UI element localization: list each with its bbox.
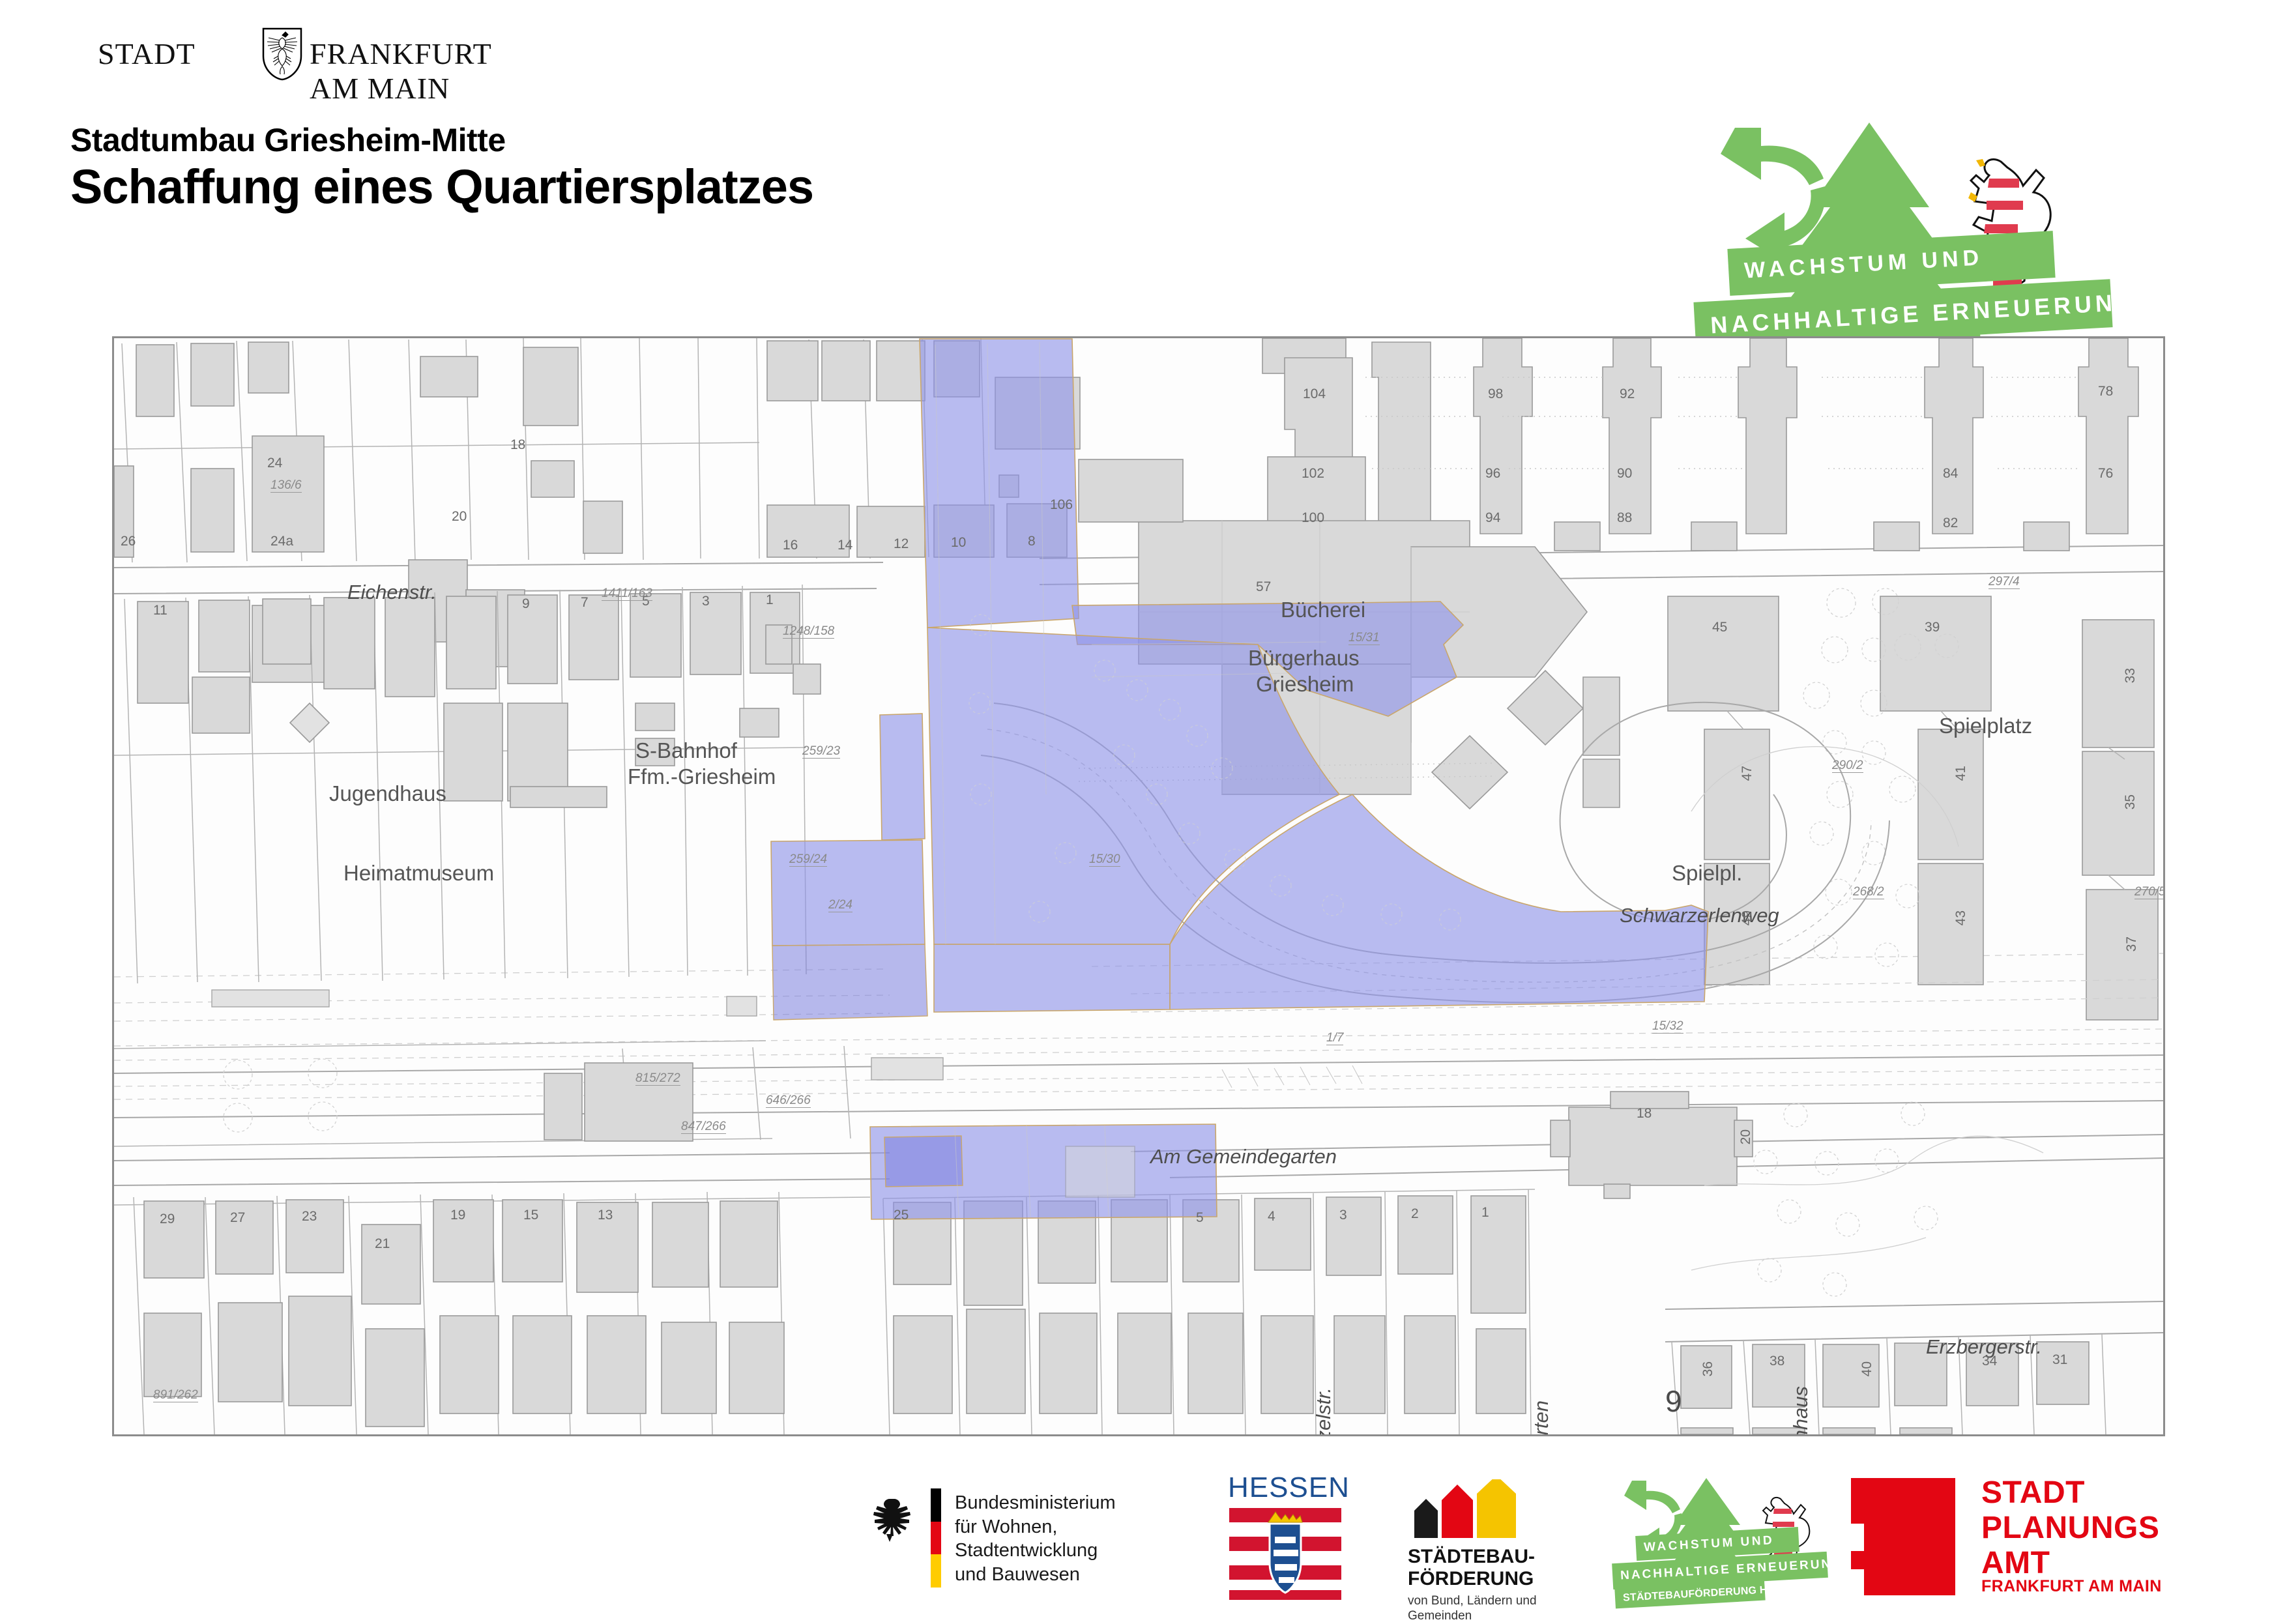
house-number: 40 (1859, 1361, 1875, 1376)
stadtplanungsamt-mark-icon (1851, 1478, 1955, 1595)
cadastral-map[interactable]: .bl{fill:#d9d9d9;stroke:#9a9a9a;stroke-w… (112, 336, 2165, 1436)
place-label-s-bahnhof: S-Bahnhof (635, 738, 737, 763)
house-number: 39 (1925, 620, 1940, 635)
house-number: 25 (894, 1208, 909, 1223)
page-title: Schaffung eines Quartiersplatzes (70, 159, 813, 214)
house-number: 88 (1617, 510, 1632, 526)
house-number: 12 (894, 536, 909, 552)
parcel-fraction: 136/6 (270, 479, 302, 493)
staedtebaufoerderung-logo: STÄDTEBAU- FÖRDERUNG von Bund, Ländern u… (1408, 1479, 1590, 1597)
house-number: 36 (1700, 1361, 1716, 1376)
house-number: 106 (1050, 497, 1073, 513)
bmwsb-logo: Bundesministerium für Wohnen, Stadtentwi… (867, 1481, 1180, 1591)
house-number: 102 (1302, 466, 1324, 482)
house-number: 41 (1953, 766, 1969, 781)
house-number: 18 (1637, 1106, 1652, 1122)
house-number: 96 (1485, 466, 1500, 482)
house-number: 45 (1712, 620, 1727, 635)
parcel-fraction: 2/24 (828, 899, 852, 912)
house-number: 57 (1256, 579, 1271, 595)
house-number: 27 (230, 1210, 245, 1226)
parcel-fraction: 268/2 (1853, 886, 1884, 899)
house-number: 3 (702, 594, 710, 609)
parcel-fraction: 15/32 (1652, 1020, 1683, 1034)
parcel-fraction: 259/23 (802, 745, 840, 759)
house-number: 26 (121, 534, 136, 549)
parcel-fraction: 270/5 (2134, 886, 2165, 899)
house-number: 33 (2123, 668, 2138, 683)
house-number: 104 (1303, 386, 1326, 402)
place-label-jugendhaus: Jugendhaus (329, 781, 446, 806)
house-number: 90 (1617, 466, 1632, 482)
staedtebaufoerderung-title: STÄDTEBAU- FÖRDERUNG (1408, 1546, 1535, 1589)
stadtplanungsamt-title: STADT PLANUNGS AMT (1981, 1475, 2159, 1580)
house-number: 3 (1339, 1208, 1347, 1223)
house-number: 19 (450, 1208, 465, 1223)
footer-logos: Bundesministerium für Wohnen, Stadtentwi… (0, 1466, 2287, 1616)
parcel-fraction: 891/262 (153, 1389, 198, 1402)
parcel-fraction: 290/2 (1832, 759, 1863, 773)
house-number: 13 (598, 1208, 613, 1223)
house-number: 78 (2098, 384, 2113, 399)
german-flag-bar (931, 1488, 941, 1588)
street-label-eichenstr: Eichenstr. (347, 581, 437, 604)
house-number: 94 (1485, 510, 1500, 526)
house-number: 1 (766, 592, 774, 608)
parcel-fraction: 1411/163 (602, 587, 652, 601)
house-number: 24a (270, 534, 293, 549)
parcel-fraction: 815/272 (635, 1072, 680, 1086)
parcel-fraction: 646/266 (766, 1094, 811, 1108)
parcel-fraction: 847/266 (681, 1120, 726, 1134)
house-number: 38 (1770, 1354, 1784, 1369)
house-number: 14 (838, 538, 852, 553)
house-number: 23 (302, 1209, 317, 1225)
house-number: 21 (375, 1236, 390, 1252)
house-number: 15 (523, 1208, 538, 1223)
place-label-buecherei: Bücherei (1281, 598, 1365, 622)
house-number: 18 (510, 437, 525, 453)
place-label-spielplatz: Spielplatz (1939, 714, 2032, 738)
hessen-wordmark: HESSEN (1228, 1472, 1350, 1504)
page-subtitle: Stadtumbau Griesheim-Mitte (70, 121, 506, 159)
house-number: 4 (1268, 1209, 1275, 1225)
house-number: 29 (160, 1211, 175, 1227)
house-number: 7 (581, 595, 589, 611)
house-number: 9 (522, 596, 530, 612)
house-number: 10 (951, 535, 966, 551)
house-number: 31 (2052, 1352, 2067, 1368)
parcel-fraction: 297/4 (1988, 575, 2020, 589)
parcel-fraction: 1/7 (1326, 1032, 1343, 1045)
place-label-griesheim: Griesheim (1256, 672, 1354, 697)
house-number: 37 (2124, 936, 2140, 951)
three-houses-icon (1408, 1479, 1538, 1538)
street-label-obere-ruetzelstr: Obere Rützelstr. (1312, 1387, 1335, 1436)
place-label-heimatmuseum: Heimatmuseum (343, 861, 494, 886)
house-number: 98 (1488, 386, 1503, 402)
house-number: 84 (1943, 466, 1958, 482)
house-number: 8 (1028, 534, 1036, 549)
parcel-fraction: 1248/158 (783, 625, 834, 639)
house-number: 82 (1943, 515, 1958, 531)
stadtplanungsamt-logo: STADT PLANUNGS AMT FRANKFURT AM MAIN (1851, 1478, 2190, 1595)
city-of-frankfurt-logo: STADT FRANKFURT AM MAIN (98, 34, 515, 80)
street-label-am-brennhaus: Am Brennhaus (1789, 1386, 1813, 1436)
parcel-fraction: 15/30 (1089, 853, 1120, 867)
house-number: 20 (1738, 1129, 1754, 1144)
street-label-am-gemeindegarten: Am Gemeindegarten (1150, 1145, 1337, 1168)
city-logo-word-frankfurt: FRANKFURT AM MAIN (310, 36, 515, 106)
bundesadler-icon (867, 1496, 912, 1544)
house-number: 20 (452, 509, 467, 525)
house-number: 16 (783, 538, 798, 553)
parcel-fraction: 259/24 (789, 853, 827, 867)
house-number: 100 (1302, 510, 1324, 526)
hessen-logo: HESSEN (1225, 1472, 1349, 1602)
staedtebaufoerderung-subtitle: von Bund, Ländern und Gemeinden (1408, 1594, 1537, 1624)
hessen-crest-icon (1229, 1505, 1341, 1600)
street-label-am-gemeindegarten-vertical: Am Gemeindegarten (1530, 1400, 1553, 1436)
place-label-buergerhaus: Bürgerhaus (1248, 646, 1360, 671)
house-number: 35 (2123, 794, 2138, 809)
frankfurt-eagle-crest-icon (262, 27, 302, 81)
house-number: 11 (153, 603, 168, 618)
stadtplanungsamt-subtitle: FRANKFURT AM MAIN (1981, 1577, 2162, 1596)
map-page-number: 9 (1665, 1384, 1682, 1419)
house-number: 92 (1620, 386, 1635, 402)
house-number: 43 (1953, 910, 1969, 925)
bmwsb-text: Bundesministerium für Wohnen, Stadtentwi… (955, 1491, 1180, 1586)
house-number: 24 (267, 456, 282, 471)
place-label-ffm-griesheim: Ffm.-Griesheim (628, 764, 776, 789)
house-number: 47 (1740, 766, 1755, 781)
house-number: 5 (1196, 1210, 1204, 1226)
house-number: 2 (1411, 1206, 1419, 1222)
city-logo-word-stadt: STADT (98, 36, 196, 71)
parcel-fraction: 15/31 (1348, 631, 1380, 645)
house-number: 76 (2098, 466, 2113, 482)
house-number: 1 (1481, 1205, 1489, 1221)
house-number: 34 (1982, 1354, 1997, 1369)
place-label-spielpl: Spielpl. (1672, 861, 1742, 886)
house-number: 49 (1740, 910, 1755, 925)
